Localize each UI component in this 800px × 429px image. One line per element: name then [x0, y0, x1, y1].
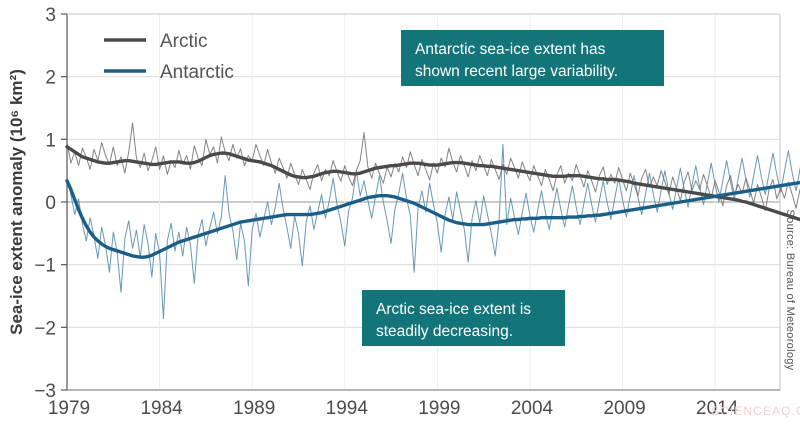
sea-ice-anomaly-chart: 3210−1−2−3 19791984198919941999200420092…: [0, 0, 800, 429]
x-tick-label: 2009: [603, 398, 645, 419]
y-axis-title: Sea-ice extent anomaly (10⁶ km²): [7, 69, 26, 335]
legend-label-antarctic: Antarctic: [160, 62, 234, 83]
legend-label-arctic: Arctic: [160, 31, 208, 52]
y-tick-label: 0: [45, 193, 56, 214]
x-tick-label: 2004: [511, 398, 554, 419]
x-tick-label: 1979: [48, 398, 90, 419]
y-tick-label: 1: [45, 130, 56, 151]
arctic-callout-line-1: Arctic sea-ice extent is: [376, 301, 531, 318]
y-tick-label: 3: [45, 5, 56, 26]
x-tick-label: 1994: [326, 398, 369, 419]
arctic-callout: Arctic sea-ice extent is steadily decrea…: [362, 290, 565, 346]
watermark-label: SCIENCEAQ.COM: [711, 404, 800, 418]
x-tick-label: 1984: [140, 398, 183, 419]
antarctic-callout: Antarctic sea-ice extent has shown recen…: [401, 30, 664, 86]
antarctic-callout-line-2: shown recent large variability.: [415, 63, 618, 80]
y-tick-label: 2: [45, 68, 56, 89]
x-tick-label: 1999: [418, 398, 460, 419]
chart-svg: 3210−1−2−3 19791984198919941999200420092…: [0, 0, 800, 429]
x-tick-label: 1989: [233, 398, 275, 419]
chart-background: [0, 0, 800, 429]
y-tick-label: −1: [34, 256, 56, 277]
y-tick-label: −2: [34, 318, 56, 339]
arctic-callout-line-2: steadily decreasing.: [376, 323, 513, 340]
source-label: Source: Bureau of Meteorology: [784, 210, 796, 371]
antarctic-callout-line-1: Antarctic sea-ice extent has: [415, 41, 606, 58]
